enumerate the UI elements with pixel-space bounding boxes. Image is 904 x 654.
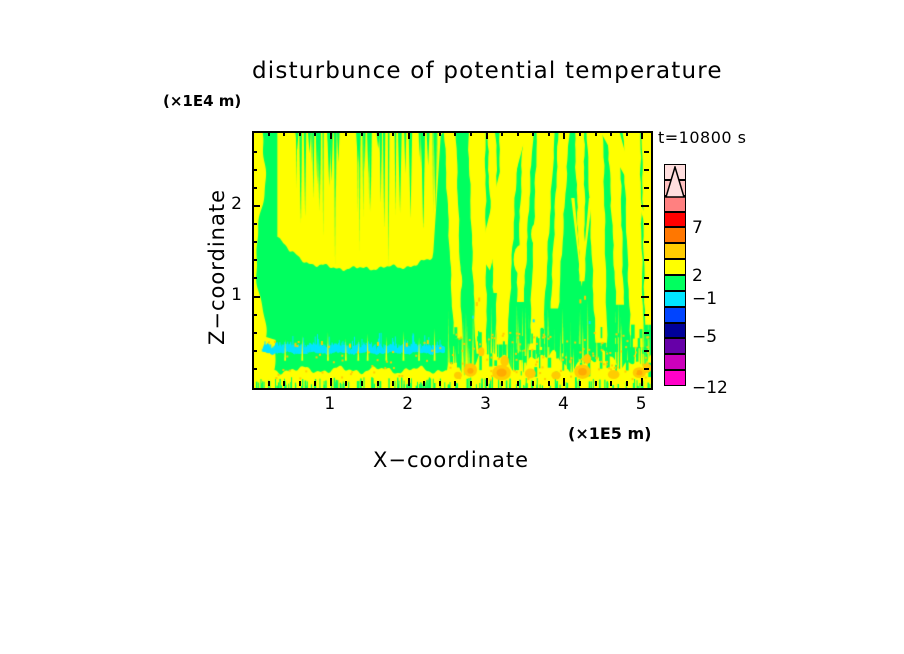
colorbar-tick-label: 2 [692, 266, 703, 286]
x-tick-top-major [641, 131, 643, 139]
x-tick-top-minor [470, 131, 472, 136]
x-tick-major [486, 378, 488, 386]
x-tick-minor [626, 381, 628, 386]
y-tick-right-minor [644, 223, 649, 225]
x-tick-top-minor [610, 131, 612, 136]
x-tick-minor [314, 381, 316, 386]
y-tick-minor [252, 223, 257, 225]
x-tick-minor [377, 381, 379, 386]
x-tick-top-major [563, 131, 565, 139]
y-tick-minor [252, 332, 257, 334]
x-tick-minor [439, 381, 441, 386]
y-tick-right-minor [644, 151, 649, 153]
colorbar-band [664, 196, 686, 212]
y-tick-minor [252, 277, 257, 279]
x-tick-top-minor [392, 131, 394, 136]
y-tick-minor [252, 187, 257, 189]
y-tick-minor [252, 368, 257, 370]
x-tick-major [330, 378, 332, 386]
colorbar-arrow-icon [664, 166, 686, 198]
y-tick-right-major [641, 296, 649, 298]
x-tick-top-minor [299, 131, 301, 136]
x-tick-minor [345, 381, 347, 386]
x-tick-minor [470, 381, 472, 386]
x-axis-unit-label: (×1E5 m) [568, 424, 651, 443]
x-tick-top-minor [361, 131, 363, 136]
x-tick-major [641, 378, 643, 386]
y-tick-right-major [641, 205, 649, 207]
y-tick-right-minor [644, 368, 649, 370]
colorbar-band [664, 259, 686, 275]
colorbar-band [664, 275, 686, 291]
y-tick-minor [252, 241, 257, 243]
colorbar-tick-label: −1 [692, 289, 717, 309]
y-tick-right-minor [644, 314, 649, 316]
x-tick-top-minor [548, 131, 550, 136]
y-tick-right-minor [644, 259, 649, 261]
x-tick-top-minor [268, 131, 270, 136]
colorbar-band [664, 354, 686, 370]
x-tick-minor [579, 381, 581, 386]
x-tick-minor [283, 381, 285, 386]
y-tick-right-minor [644, 169, 649, 171]
y-tick-right-minor [644, 241, 649, 243]
x-tick-top-minor [501, 131, 503, 136]
x-tick-minor [517, 381, 519, 386]
x-tick-top-minor [454, 131, 456, 136]
x-tick-top-minor [314, 131, 316, 136]
x-tick-top-minor [517, 131, 519, 136]
colorbar-band [664, 370, 686, 386]
x-tick-label: 1 [316, 394, 344, 414]
colorbar-band [664, 212, 686, 228]
y-tick-right-minor [644, 332, 649, 334]
y-tick-minor [252, 314, 257, 316]
contour-field [254, 133, 651, 388]
colorbar-band [664, 227, 686, 243]
time-annotation: t=10800 s [658, 128, 747, 147]
x-tick-minor [423, 381, 425, 386]
y-axis-unit-label: (×1E4 m) [163, 92, 241, 110]
y-tick-minor [252, 169, 257, 171]
x-tick-minor [548, 381, 550, 386]
x-tick-top-minor [423, 131, 425, 136]
x-tick-top-minor [626, 131, 628, 136]
x-tick-top-major [330, 131, 332, 139]
plot-area [252, 131, 653, 390]
x-tick-minor [532, 381, 534, 386]
x-tick-top-major [408, 131, 410, 139]
x-axis-title: X−coordinate [252, 448, 650, 472]
x-tick-top-minor [439, 131, 441, 136]
y-tick-right-minor [644, 187, 649, 189]
y-tick-minor [252, 350, 257, 352]
colorbar-tick-label: 7 [692, 218, 703, 238]
x-tick-minor [299, 381, 301, 386]
y-tick-major [252, 205, 260, 207]
x-tick-top-major [486, 131, 488, 139]
x-tick-top-minor [532, 131, 534, 136]
x-tick-minor [454, 381, 456, 386]
x-tick-minor [595, 381, 597, 386]
colorbar-band [664, 338, 686, 354]
x-tick-label: 4 [549, 394, 577, 414]
x-tick-minor [268, 381, 270, 386]
y-tick-minor [252, 151, 257, 153]
page-title: disturbunce of potential temperature [252, 58, 852, 84]
x-tick-top-minor [345, 131, 347, 136]
x-tick-top-minor [377, 131, 379, 136]
y-tick-major [252, 296, 260, 298]
colorbar-band [664, 323, 686, 339]
x-tick-label: 2 [394, 394, 422, 414]
x-tick-top-minor [283, 131, 285, 136]
x-tick-major [563, 378, 565, 386]
colorbar-band [664, 243, 686, 259]
x-tick-minor [361, 381, 363, 386]
x-tick-top-minor [595, 131, 597, 136]
x-tick-minor [392, 381, 394, 386]
y-axis-title: Z−coordinate [205, 189, 229, 345]
y-tick-right-minor [644, 277, 649, 279]
colorbar-tick-label: −5 [692, 327, 717, 347]
colorbar-tick-label: −12 [692, 378, 728, 398]
x-tick-label: 3 [472, 394, 500, 414]
x-tick-minor [501, 381, 503, 386]
colorbar-band [664, 291, 686, 307]
y-tick-minor [252, 259, 257, 261]
x-tick-minor [610, 381, 612, 386]
x-tick-top-minor [579, 131, 581, 136]
x-tick-label: 5 [627, 394, 655, 414]
colorbar-band [664, 307, 686, 323]
figure-root: disturbunce of potential temperature (×1… [0, 0, 904, 654]
y-tick-right-minor [644, 350, 649, 352]
x-tick-major [408, 378, 410, 386]
